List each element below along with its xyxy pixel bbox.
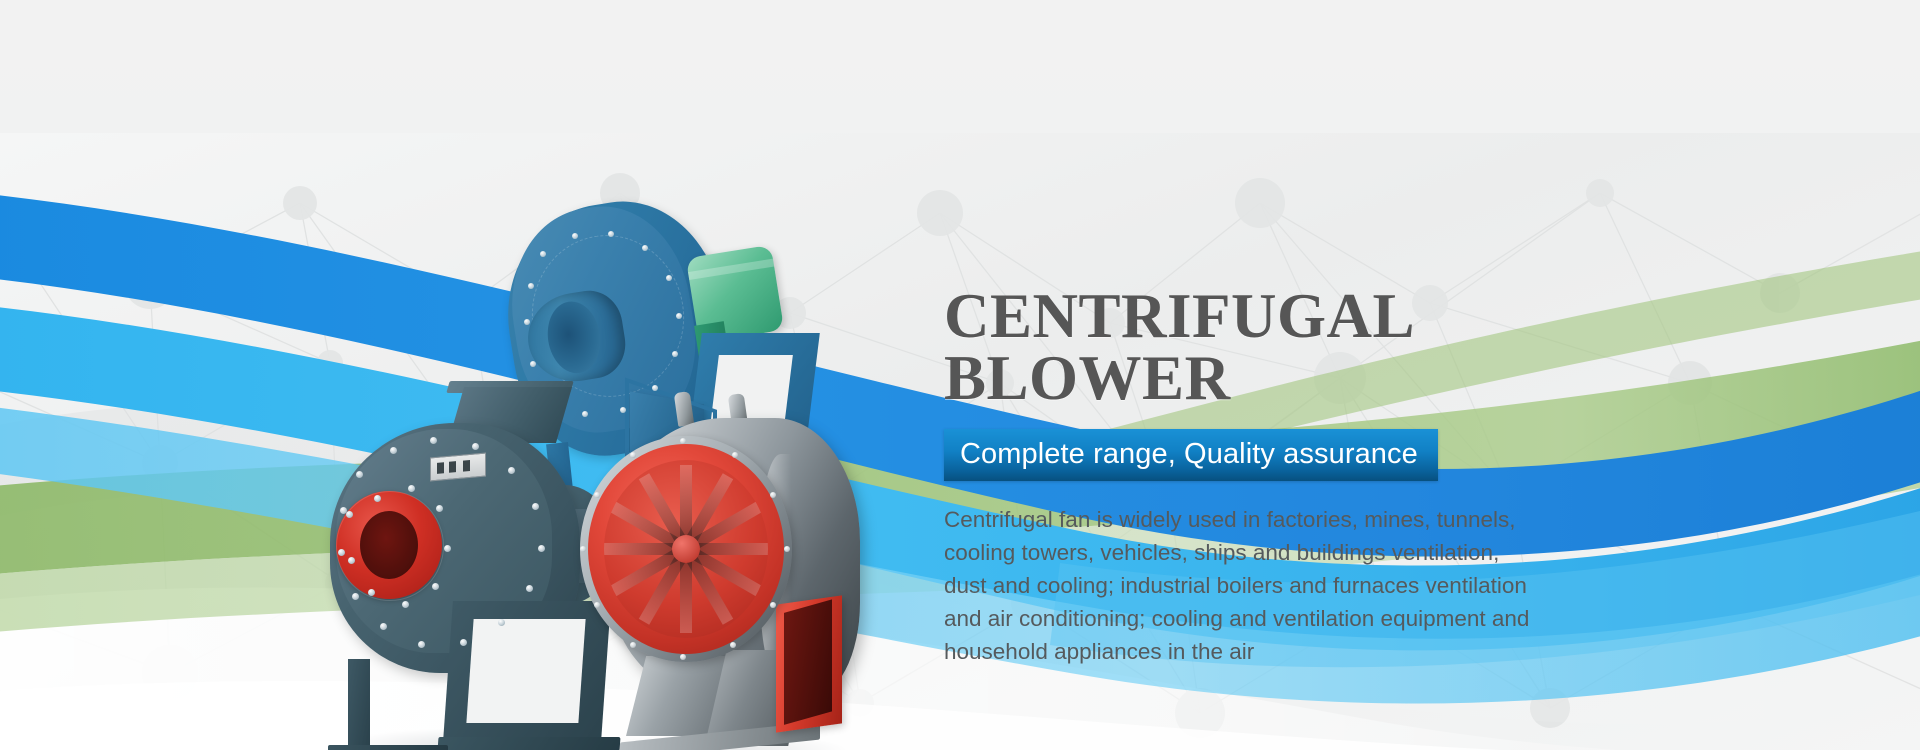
- description-line: dust and cooling; industrial boilers and…: [944, 569, 1544, 602]
- description-line: and air conditioning; cooling and ventil…: [944, 602, 1544, 635]
- blower-inlet-opening: [543, 298, 606, 377]
- description-text: Centrifugal fan is widely used in factor…: [944, 503, 1544, 668]
- blower2-nameplate: [430, 453, 486, 482]
- description-line: cooling towers, vehicles, ships and buil…: [944, 536, 1544, 569]
- banner-copy: CENTRIFUGAL BLOWER Complete range, Quali…: [944, 285, 1604, 668]
- title-line-2: BLOWER: [944, 343, 1231, 413]
- motor-band: [688, 259, 774, 280]
- tagline-badge: Complete range, Quality assurance: [944, 429, 1438, 481]
- fan3-red-outlet-duct: [776, 595, 842, 732]
- fan3-bolt-circle: [580, 436, 792, 662]
- product-image-group: [330, 173, 950, 750]
- frame-cutout: [466, 619, 585, 723]
- title-line-1: CENTRIFUGAL: [944, 281, 1415, 351]
- product-steel-fan: [580, 388, 910, 750]
- page-top-strip: [0, 0, 1920, 133]
- description-line: Centrifugal fan is widely used in factor…: [944, 503, 1544, 536]
- blower2-leg: [348, 659, 370, 750]
- page-title: CENTRIFUGAL BLOWER: [944, 285, 1604, 409]
- description-line: household appliances in the air: [944, 635, 1544, 668]
- fan3-outlet-opening: [784, 599, 832, 724]
- lifting-lug-left: [674, 391, 695, 427]
- blower2-base-plate: [328, 745, 448, 750]
- hero-banner: CENTRIFUGAL BLOWER Complete range, Quali…: [0, 0, 1920, 750]
- blower2-inlet-ring: [336, 491, 444, 601]
